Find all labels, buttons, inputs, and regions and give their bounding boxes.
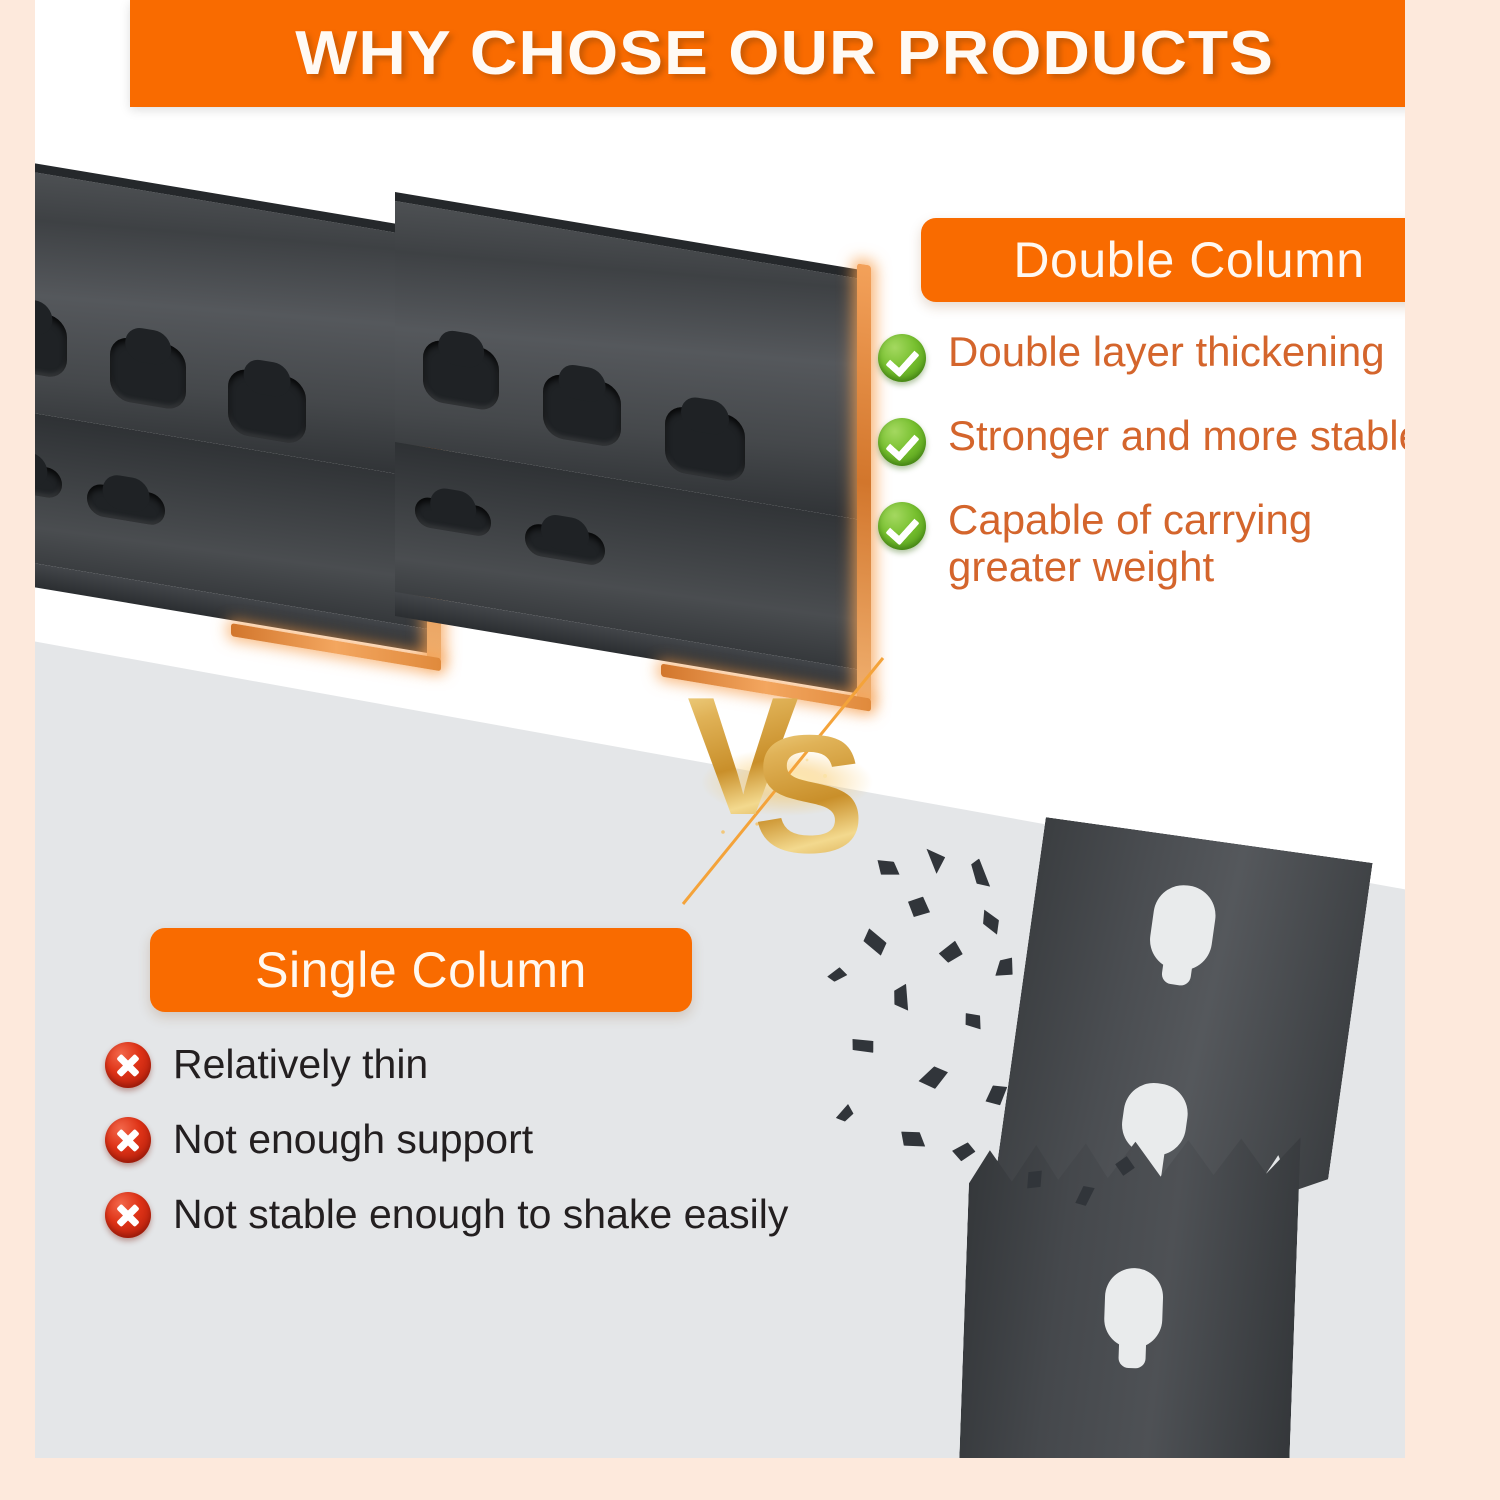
debris-shard (860, 926, 891, 958)
steel-beam-rear (35, 160, 435, 660)
double-column-badge-label: Double Column (1013, 231, 1364, 289)
list-item: Not stable enough to shake easily (105, 1192, 925, 1238)
comparison-canvas: V S WHY CHOSE OUR PRODUCTS Double Column… (35, 0, 1405, 1458)
keyhole-slot-small (87, 482, 165, 527)
benefit-label: Capable of carrying greater weight (948, 496, 1368, 590)
keyhole-slot (665, 404, 745, 483)
debris-shard (960, 1007, 987, 1035)
versus-graphic: V S (675, 672, 895, 887)
beam-copper-edge-highlight (857, 263, 871, 701)
list-item: Double layer thickening (878, 328, 1405, 382)
debris-shard (937, 937, 966, 966)
list-item: Capable of carrying greater weight (878, 496, 1405, 590)
keyhole-slot (1146, 881, 1219, 974)
debris-shard (992, 953, 1020, 983)
single-column-badge-label: Single Column (255, 941, 587, 999)
check-circle-icon (878, 502, 926, 550)
page-title: WHY CHOSE OUR PRODUCTS (296, 18, 1275, 89)
keyhole-slot (1103, 1267, 1164, 1349)
keyhole-slot-small (35, 458, 62, 500)
keyhole-slot-small (415, 495, 491, 538)
keyhole-slot-small (525, 522, 605, 567)
header-banner: WHY CHOSE OUR PRODUCTS (130, 0, 1405, 107)
debris-shard (978, 906, 1003, 938)
x-circle-icon (105, 1042, 151, 1088)
double-column-badge: Double Column (921, 218, 1405, 302)
check-circle-icon (878, 334, 926, 382)
steel-beam-front (395, 192, 865, 701)
drawback-label: Relatively thin (173, 1042, 428, 1087)
keyhole-slot (35, 306, 67, 380)
keyhole-slot (228, 367, 306, 446)
keyhole-slot (1118, 1079, 1191, 1159)
x-circle-icon (105, 1192, 151, 1238)
x-circle-icon (105, 1117, 151, 1163)
debris-shard (826, 966, 848, 983)
benefit-label: Double layer thickening (948, 328, 1385, 375)
keyhole-slot (110, 335, 186, 412)
infographic-root: V S WHY CHOSE OUR PRODUCTS Double Column… (0, 0, 1500, 1500)
single-column-drawbacks-list: Relatively thin Not enough support Not s… (105, 1042, 925, 1267)
list-item: Stronger and more stable (878, 412, 1405, 466)
debris-shard (889, 984, 915, 1015)
debris-shard (951, 1141, 977, 1163)
drawback-label: Not enough support (173, 1117, 533, 1162)
double-column-benefits-list: Double layer thickening Stronger and mor… (878, 328, 1405, 620)
benefit-label: Stronger and more stable (948, 412, 1405, 459)
keyhole-slot (543, 372, 621, 449)
check-circle-icon (878, 418, 926, 466)
debris-shard (905, 893, 934, 920)
list-item: Relatively thin (105, 1042, 925, 1088)
single-column-badge: Single Column (150, 928, 692, 1012)
double-column-product-photo (35, 150, 875, 620)
versus-letter-s: S (753, 710, 973, 878)
list-item: Not enough support (105, 1117, 925, 1163)
drawback-label: Not stable enough to shake easily (173, 1192, 788, 1237)
keyhole-slot (423, 338, 499, 413)
